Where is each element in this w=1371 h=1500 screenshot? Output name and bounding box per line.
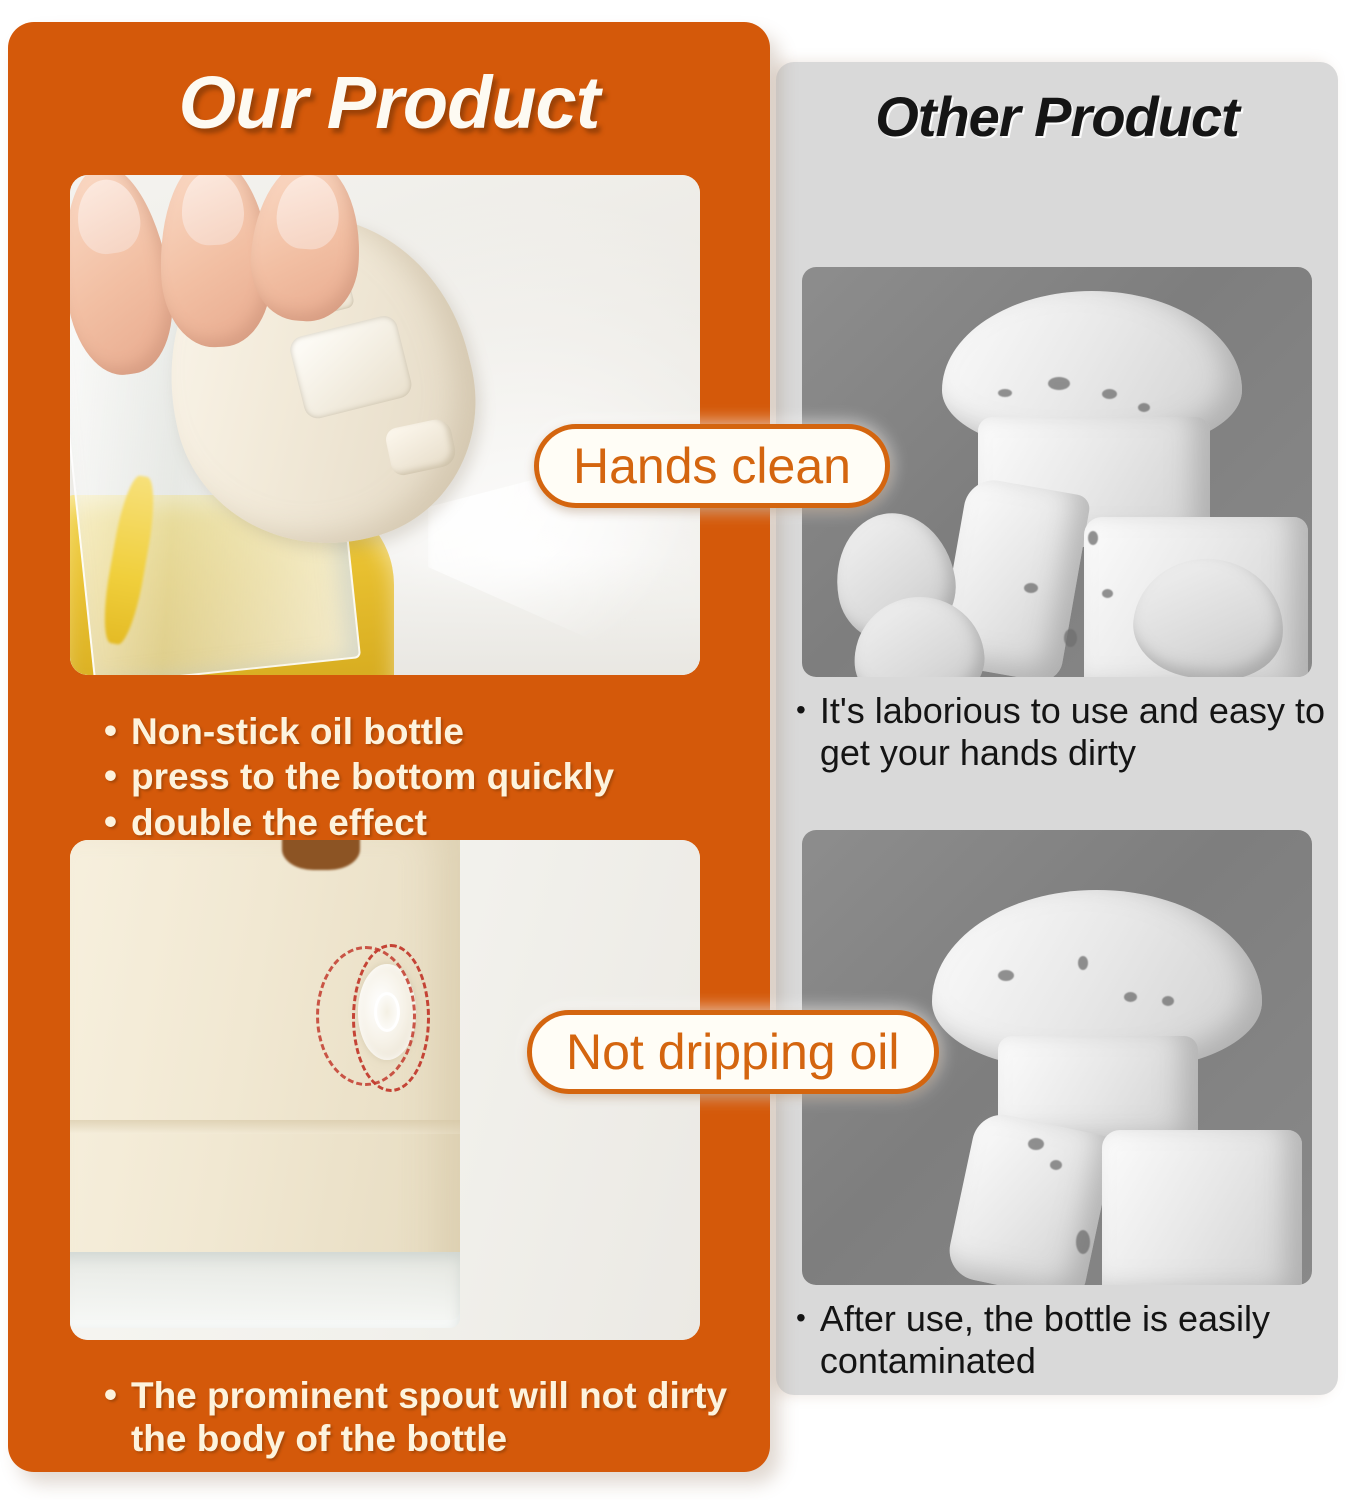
bullet-text: press to the bottom quickly [131, 755, 744, 798]
hand [70, 175, 376, 437]
list-item: • press to the bottom quickly [104, 755, 744, 798]
bullet-text: The prominent spout will not dirty the b… [131, 1374, 744, 1461]
dirt-spot [1138, 403, 1150, 412]
dirt-spot [1064, 629, 1077, 647]
bullet-dot: • [796, 1298, 806, 1332]
fingernail [180, 175, 246, 247]
other-product-title: Other Product [776, 84, 1338, 149]
list-item: • The prominent spout will not dirty the… [104, 1374, 744, 1461]
bullet-dot: • [104, 1374, 117, 1413]
fingernail [73, 176, 145, 258]
bottle-seam [70, 1120, 460, 1134]
comparison-infographic: Other Product [0, 0, 1371, 1500]
badge-not-dripping-oil: Not dripping oil [527, 1010, 939, 1094]
badge-hands-clean: Hands clean [534, 424, 890, 508]
bullet-dot: • [104, 710, 117, 749]
list-item: • After use, the bottle is easily contam… [796, 1298, 1326, 1382]
dirt-spot [1088, 531, 1098, 545]
dirt-spot [998, 970, 1014, 981]
bullet-text: It's laborious to use and easy to get yo… [820, 690, 1326, 774]
other-product-bullets-1: • It's laborious to use and easy to get … [796, 690, 1326, 776]
fingernail [275, 175, 342, 251]
bullet-text: double the effect [131, 801, 744, 844]
our-product-title: Our Product [8, 60, 770, 145]
dirt-spot [1124, 992, 1137, 1002]
dirt-spot [1076, 1230, 1090, 1254]
other-product-panel: Other Product [776, 62, 1338, 1395]
list-item: • double the effect [104, 801, 744, 844]
bullet-text: Non-stick oil bottle [131, 710, 744, 753]
our-product-panel: Our Product [8, 22, 770, 1472]
bullet-dot: • [796, 690, 806, 724]
dirt-spot [1102, 589, 1113, 598]
dashed-callout-circle [352, 944, 430, 1092]
dirt-spot [1162, 996, 1174, 1006]
bullet-dot: • [104, 755, 117, 794]
dirt-spot [1102, 389, 1117, 399]
dirt-spot [1048, 377, 1070, 390]
other-product-bullets-2: • After use, the bottle is easily contam… [796, 1298, 1326, 1384]
bullet-text: After use, the bottle is easily contamin… [820, 1298, 1326, 1382]
bullet-dot: • [104, 801, 117, 840]
list-item: • Non-stick oil bottle [104, 710, 744, 753]
dirt-spot [1028, 1138, 1044, 1150]
dirt-spot [1050, 1160, 1062, 1170]
glass-foot [70, 1252, 460, 1328]
finger [247, 175, 366, 325]
dirt-spot [998, 389, 1012, 397]
our-product-bullets-1: • Non-stick oil bottle • press to the bo… [104, 710, 744, 846]
dirt-spot [1024, 583, 1038, 593]
dirt-spot [1078, 956, 1088, 970]
list-item: • It's laborious to use and easy to get … [796, 690, 1326, 774]
our-product-bullets-2: • The prominent spout will not dirty the… [104, 1374, 744, 1463]
bottle-body [1102, 1130, 1302, 1285]
